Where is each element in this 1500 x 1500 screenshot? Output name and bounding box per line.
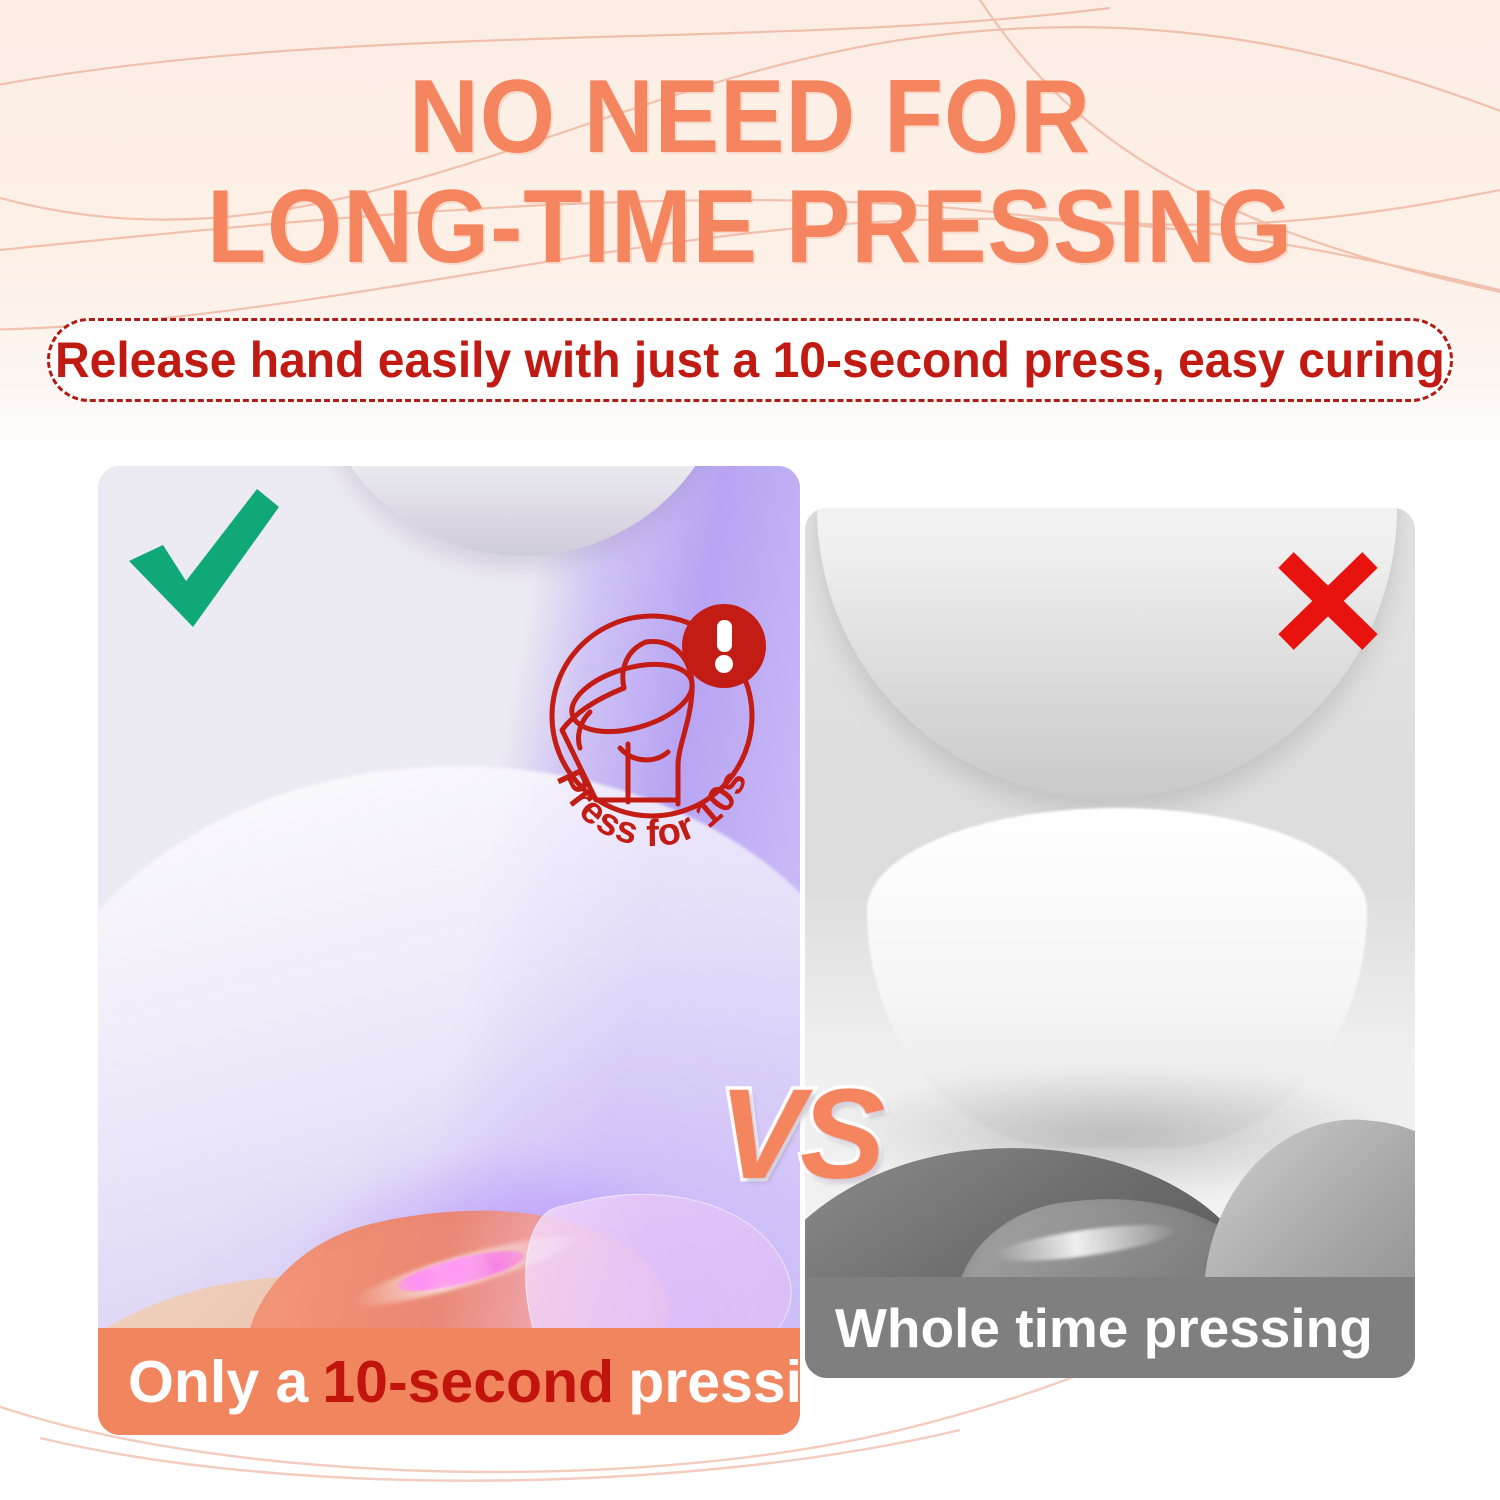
uv-lamp-dome [313, 466, 733, 556]
green-check-icon [123, 483, 283, 633]
press-for-10s-badge: Press for 10s [528, 588, 776, 856]
good-caption-highlight: 10-second [322, 1348, 614, 1416]
headline-line-2: LONG-TIME PRESSING [53, 172, 1448, 282]
page-headline: NO NEED FOR LONG-TIME PRESSING [53, 62, 1448, 282]
versus-label: VS [700, 1060, 900, 1210]
svg-text:Press for 10s: Press for 10s [548, 763, 756, 856]
good-caption-prefix: Only a [128, 1348, 308, 1416]
headline-line-1: NO NEED FOR [53, 62, 1448, 172]
red-x-icon [1272, 548, 1384, 654]
good-caption-bar: Only a 10-second pressing [98, 1328, 800, 1435]
bad-caption-bar: Whole time pressing [805, 1277, 1415, 1378]
promo-banner: NO NEED FOR LONG-TIME PRESSING Release h… [0, 0, 1500, 1500]
subtitle-box: Release hand easily with just a 10-secon… [47, 318, 1453, 402]
bad-caption-text: Whole time pressing [835, 1296, 1373, 1360]
subtitle-text: Release hand easily with just a 10-secon… [55, 331, 1445, 389]
press-badge-label: Press for 10s [548, 763, 756, 856]
